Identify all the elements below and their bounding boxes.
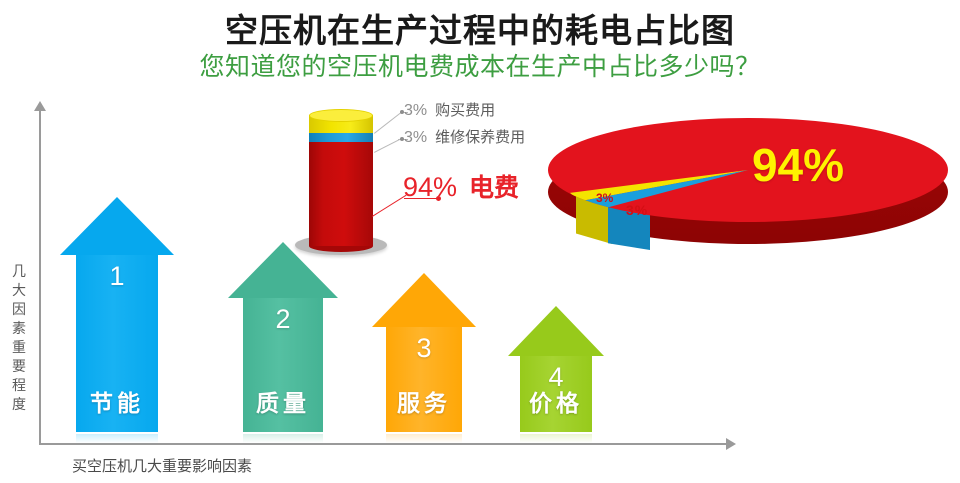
- factor-arrow-2[interactable]: 2 质量: [228, 242, 338, 443]
- x-axis-arrow-icon: [726, 438, 736, 450]
- arrow-label-1: 节能: [76, 384, 158, 418]
- arrow-shaft-2: 2 质量: [243, 298, 323, 432]
- cylinder-top-ellipse: [309, 109, 373, 122]
- callout-maintenance-pct: 3%: [404, 129, 427, 146]
- callout-electricity-text: 电费: [469, 174, 519, 202]
- callout-purchase-pct: 3%: [404, 102, 427, 119]
- pie-chart[interactable]: 94% 3% 3%: [548, 118, 948, 244]
- arrow-head-1: [60, 197, 174, 255]
- x-axis-line: [39, 443, 729, 445]
- factor-arrow-3[interactable]: 3 服务: [372, 273, 476, 443]
- cylinder-segment-electricity: [309, 140, 373, 246]
- factor-arrow-1[interactable]: 1 节能: [60, 197, 174, 443]
- y-axis-line: [39, 108, 41, 445]
- arrow-label-2: 质量: [243, 384, 323, 418]
- y-axis-label: 几大因素重要程度: [8, 262, 30, 414]
- arrow-label-4: 价格: [520, 384, 592, 418]
- arrow-shaft-1: 1 节能: [76, 255, 158, 432]
- pie-label-purchase: 3%: [596, 191, 613, 205]
- cylinder-chart[interactable]: [305, 120, 377, 255]
- callout-electricity: 94%电费: [403, 168, 519, 204]
- arrow-reflection-2: [243, 434, 323, 443]
- arrow-rank-1: 1: [76, 261, 158, 292]
- leader-line-maintenance: [374, 138, 401, 153]
- factor-arrow-4[interactable]: 4 价格: [508, 306, 604, 443]
- pie-label-maintenance: 3%: [626, 202, 648, 218]
- arrow-head-4: [508, 306, 604, 356]
- arrow-rank-3: 3: [386, 333, 462, 364]
- y-axis-arrow-icon: [34, 101, 46, 111]
- pie-label-electricity: 94%: [708, 138, 888, 192]
- arrow-reflection-3: [386, 434, 462, 443]
- arrow-shaft-3: 3 服务: [386, 327, 462, 432]
- page-title: 空压机在生产过程中的耗电占比图: [0, 4, 960, 52]
- arrow-label-3: 服务: [386, 384, 462, 418]
- callout-maintenance: 3%维修保养费用: [404, 126, 525, 147]
- arrow-rank-2: 2: [243, 304, 323, 335]
- arrow-shaft-4: 4 价格: [520, 356, 592, 432]
- arrow-reflection-4: [520, 434, 592, 443]
- leader-line-purchase: [374, 112, 401, 134]
- callout-electricity-pct: 94%: [403, 172, 457, 202]
- arrow-reflection-1: [76, 434, 158, 443]
- page-subtitle: 您知道您的空压机电费成本在生产中占比多少吗？: [0, 47, 960, 83]
- callout-maintenance-text: 维修保养费用: [435, 129, 525, 146]
- callout-purchase-text: 购买费用: [435, 102, 495, 119]
- x-axis-label: 买空压机几大重要影响因素: [72, 455, 252, 476]
- arrow-head-3: [372, 273, 476, 327]
- infographic-canvas: 空压机在生产过程中的耗电占比图 您知道您的空压机电费成本在生产中占比多少吗？ 几…: [0, 0, 960, 483]
- callout-purchase: 3%购买费用: [404, 99, 495, 120]
- leader-line-electricity: [372, 195, 406, 217]
